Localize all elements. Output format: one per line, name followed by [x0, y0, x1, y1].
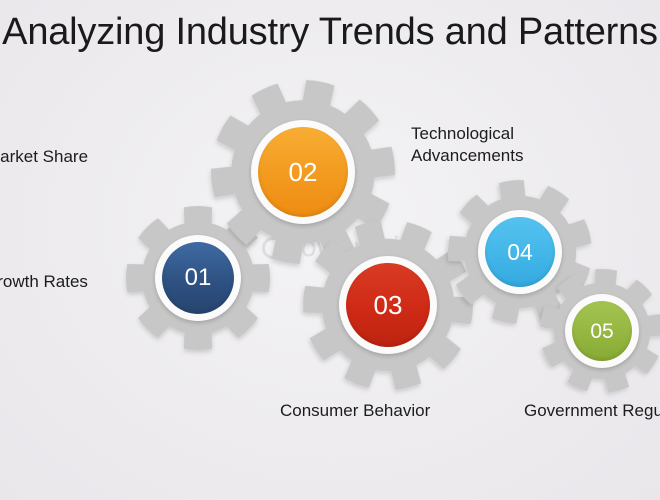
- gear-number: 02: [289, 159, 318, 185]
- page-title: Analyzing Industry Trends and Patterns: [2, 8, 658, 56]
- gear-number: 03: [374, 292, 403, 318]
- gear-hub-ring: 03: [339, 256, 437, 354]
- gear-hub-ring: 05: [565, 294, 639, 368]
- slide-canvas: Analyzing Industry Trends and Patterns P…: [0, 0, 660, 500]
- gear-disc-02[interactable]: 02: [258, 127, 348, 217]
- gear-label: Government Regulations: [524, 400, 660, 422]
- gear-node-05[interactable]: 05: [526, 255, 660, 407]
- gear-label: Consumer Behavior: [280, 400, 430, 422]
- gear-label: Growth Rates: [0, 271, 88, 293]
- gear-label: Technological Advancements: [411, 123, 586, 167]
- gear-disc-05[interactable]: 05: [572, 301, 632, 361]
- gear-number: 05: [590, 321, 613, 342]
- gear-label: Market Share: [0, 146, 88, 168]
- gear-disc-03[interactable]: 03: [346, 263, 430, 347]
